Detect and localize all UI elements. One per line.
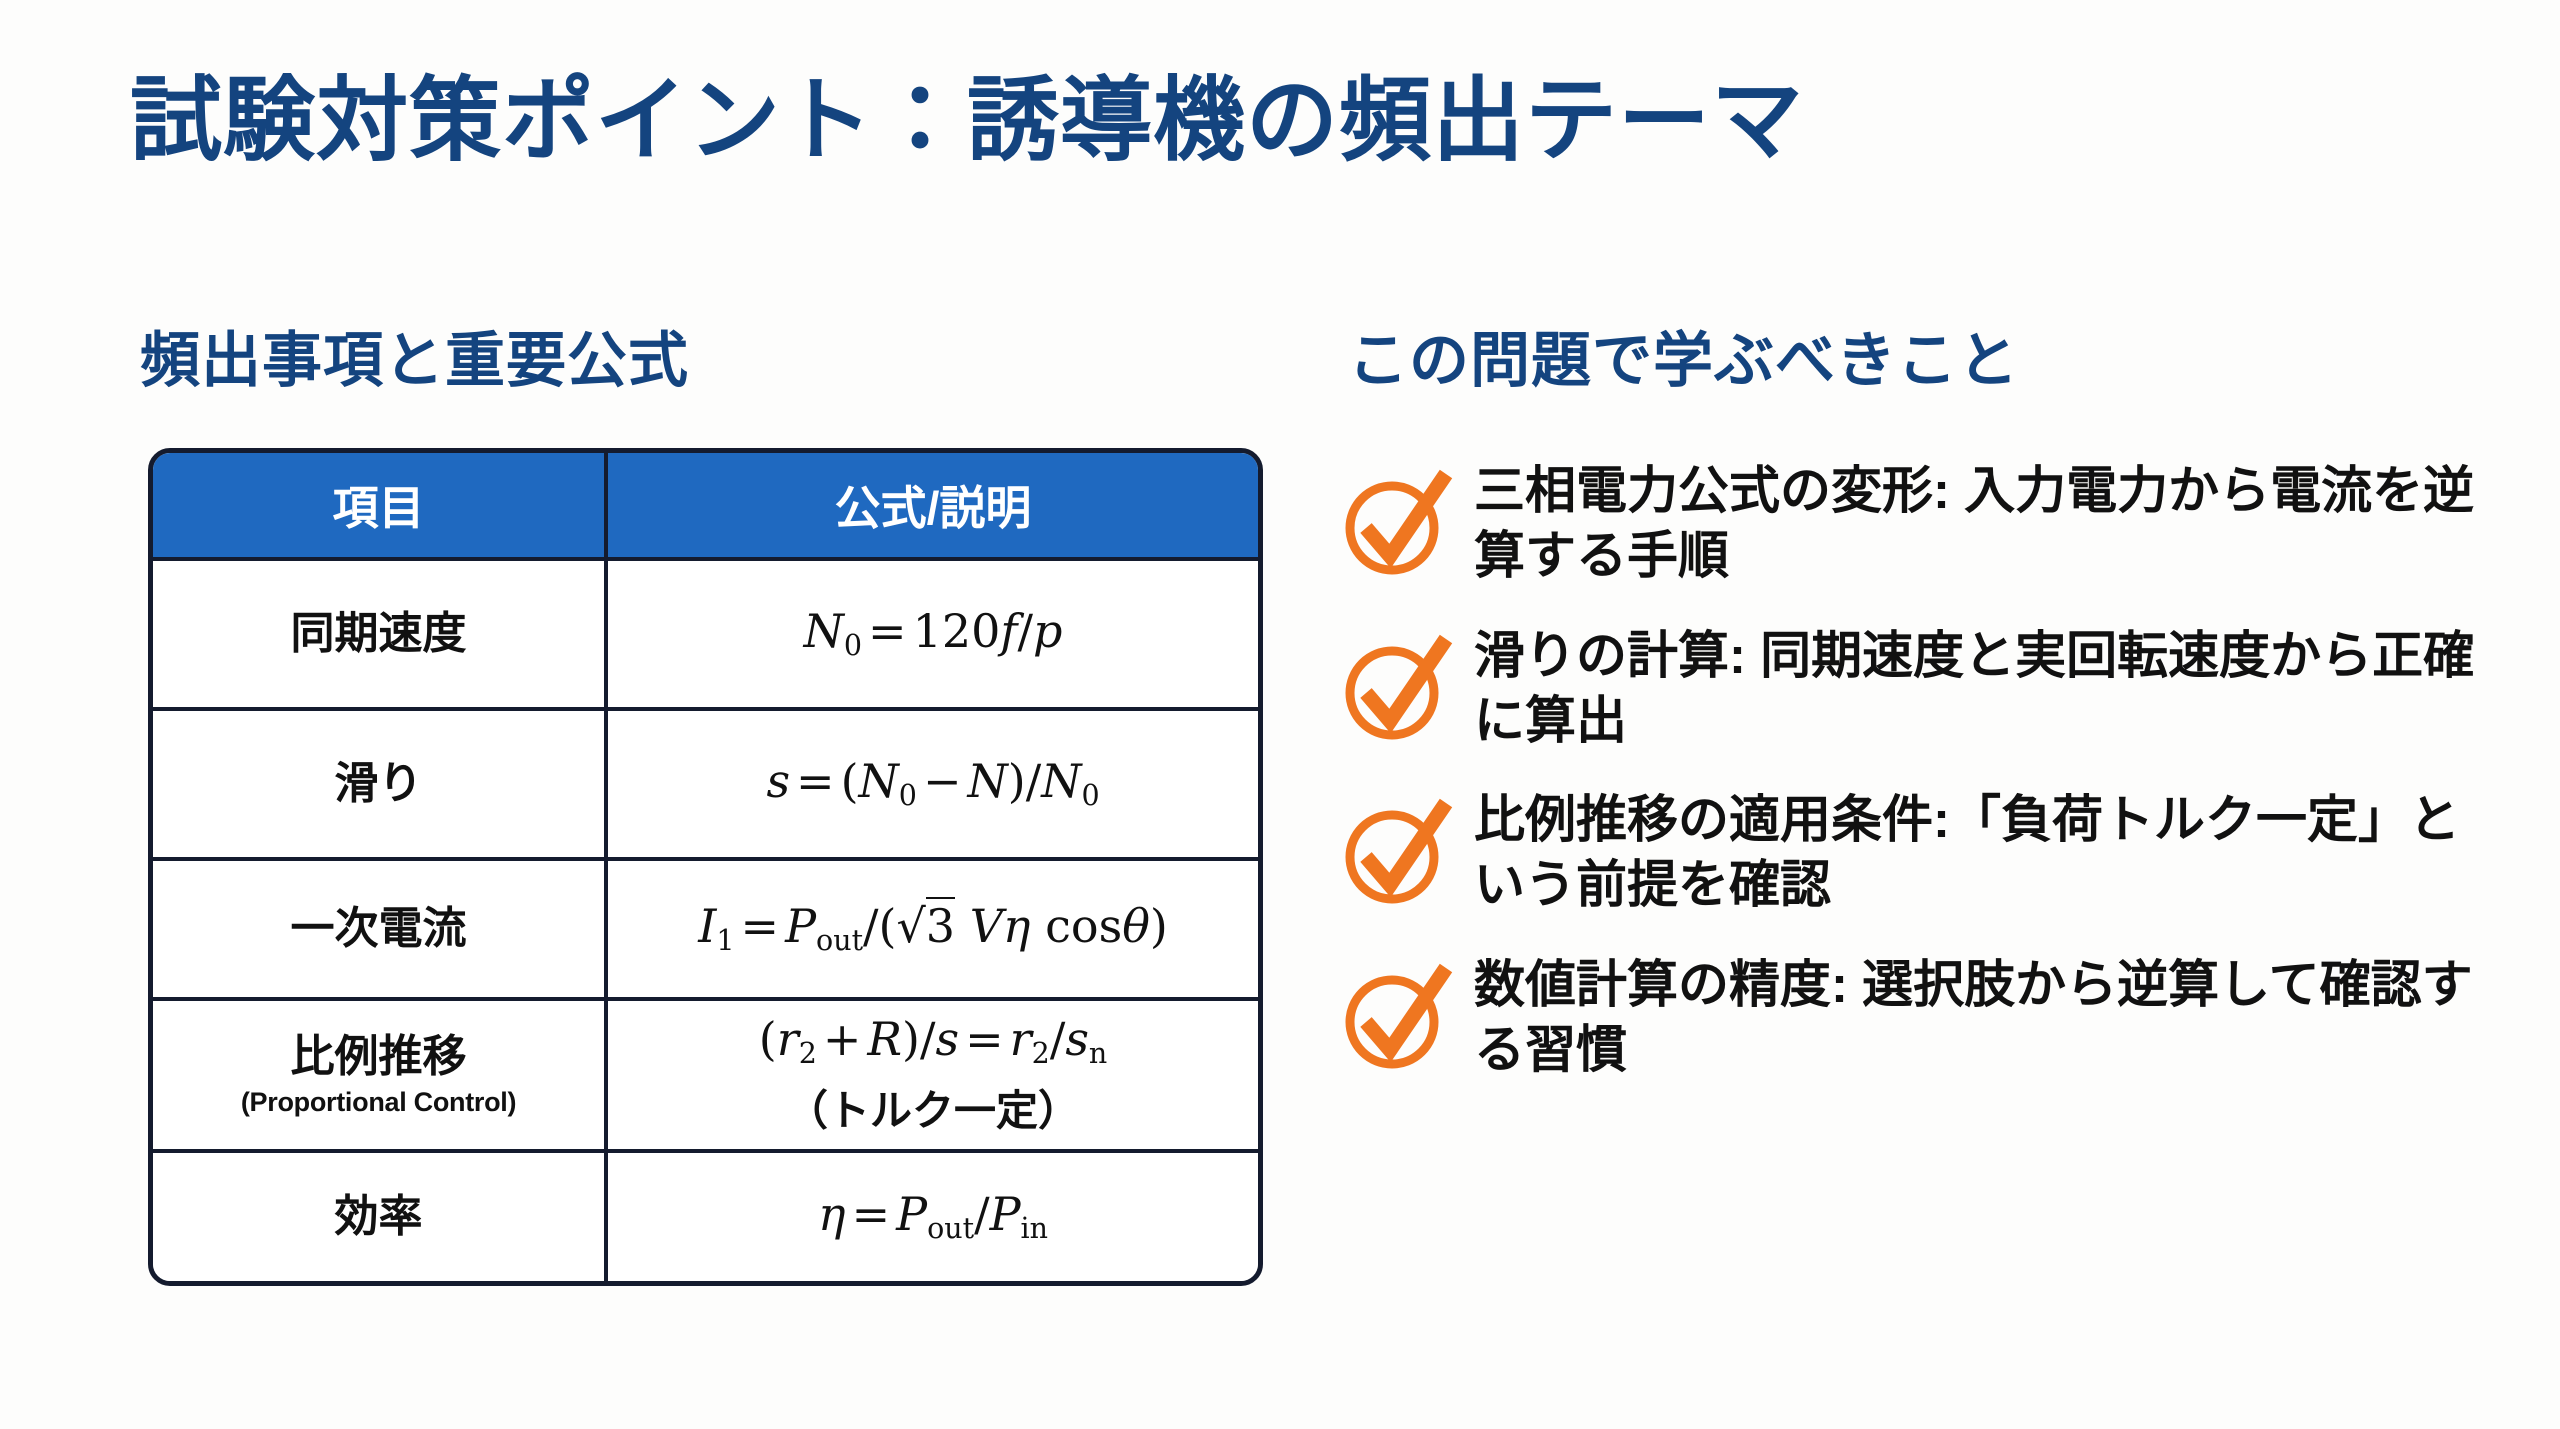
row-label-cell: 同期速度	[153, 559, 606, 709]
left-section-heading: 頻出事項と重要公式	[140, 312, 689, 399]
list-item: 滑りの計算: 同期速度と実回転速度から正確に算出	[1340, 617, 2520, 754]
formula-synchronous-speed: N0=120f/p	[804, 604, 1063, 658]
formula-efficiency: η=Pout/Pin	[818, 1187, 1048, 1241]
column-header-formula: 公式/説明	[606, 453, 1258, 559]
row-label: 効率	[335, 1192, 423, 1241]
row-label: 滑り	[335, 759, 423, 808]
row-label-cell: 滑り	[153, 709, 606, 859]
check-circle-icon	[1340, 797, 1456, 909]
row-label: 同期速度	[291, 609, 467, 658]
formula-primary-current: I1=Pout/(√3 Vη cosθ)	[698, 899, 1168, 953]
table-header-row: 項目 公式/説明	[153, 453, 1258, 559]
row-formula-cell: s=(N0−N)/N0	[606, 709, 1258, 859]
list-item: 比例推移の適用条件:「負荷トルク一定」という前提を確認	[1340, 781, 2520, 918]
row-formula-cell: (r2+R)/s=r2/sn （トルク一定）	[606, 999, 1258, 1151]
table-row: 効率 η=Pout/Pin	[153, 1151, 1258, 1281]
check-circle-icon	[1340, 962, 1456, 1074]
formula-table: 項目 公式/説明 同期速度 N0=120f/p 滑り	[148, 448, 1263, 1286]
row-label: 一次電流	[291, 904, 467, 953]
list-item-text: 三相電力公式の変形: 入力電力から電流を逆算する手順	[1474, 452, 2494, 589]
slide-root: 試験対策ポイント：誘導機の頻出テーマ 頻出事項と重要公式 項目 公式/説明 同期…	[0, 0, 2560, 1429]
list-item-text: 比例推移の適用条件:「負荷トルク一定」という前提を確認	[1474, 781, 2494, 918]
list-item: 三相電力公式の変形: 入力電力から電流を逆算する手順	[1340, 452, 2520, 589]
formula-torque-note: （トルク一定）	[614, 1077, 1252, 1138]
check-circle-icon	[1340, 633, 1456, 745]
row-sublabel: (Proportional Control)	[159, 1087, 598, 1118]
right-section-heading: この問題で学ぶべきこと	[1348, 312, 2019, 399]
list-item-text: 滑りの計算: 同期速度と実回転速度から正確に算出	[1474, 617, 2494, 754]
formula-proportional-shift: (r2+R)/s=r2/sn	[759, 1012, 1108, 1066]
row-label-cell: 効率	[153, 1151, 606, 1281]
table-row: 一次電流 I1=Pout/(√3 Vη cosθ)	[153, 859, 1258, 999]
row-formula-cell: η=Pout/Pin	[606, 1151, 1258, 1281]
column-header-item: 項目	[153, 453, 606, 559]
learning-points-list: 三相電力公式の変形: 入力電力から電流を逆算する手順 滑りの計算: 同期速度と実…	[1340, 452, 2520, 1110]
table-row: 比例推移 (Proportional Control) (r2+R)/s=r2/…	[153, 999, 1258, 1151]
page-title: 試験対策ポイント：誘導機の頻出テーマ	[130, 72, 1804, 171]
formula-slip: s=(N0−N)/N0	[766, 754, 1099, 808]
row-formula-cell: N0=120f/p	[606, 559, 1258, 709]
table-row: 滑り s=(N0−N)/N0	[153, 709, 1258, 859]
row-label: 比例推移	[291, 1032, 467, 1081]
list-item-text: 数値計算の精度: 選択肢から逆算して確認する習慣	[1474, 946, 2494, 1083]
row-label-cell: 一次電流	[153, 859, 606, 999]
table-row: 同期速度 N0=120f/p	[153, 559, 1258, 709]
row-formula-cell: I1=Pout/(√3 Vη cosθ)	[606, 859, 1258, 999]
list-item: 数値計算の精度: 選択肢から逆算して確認する習慣	[1340, 946, 2520, 1083]
row-label-cell: 比例推移 (Proportional Control)	[153, 999, 606, 1151]
check-circle-icon	[1340, 468, 1456, 580]
